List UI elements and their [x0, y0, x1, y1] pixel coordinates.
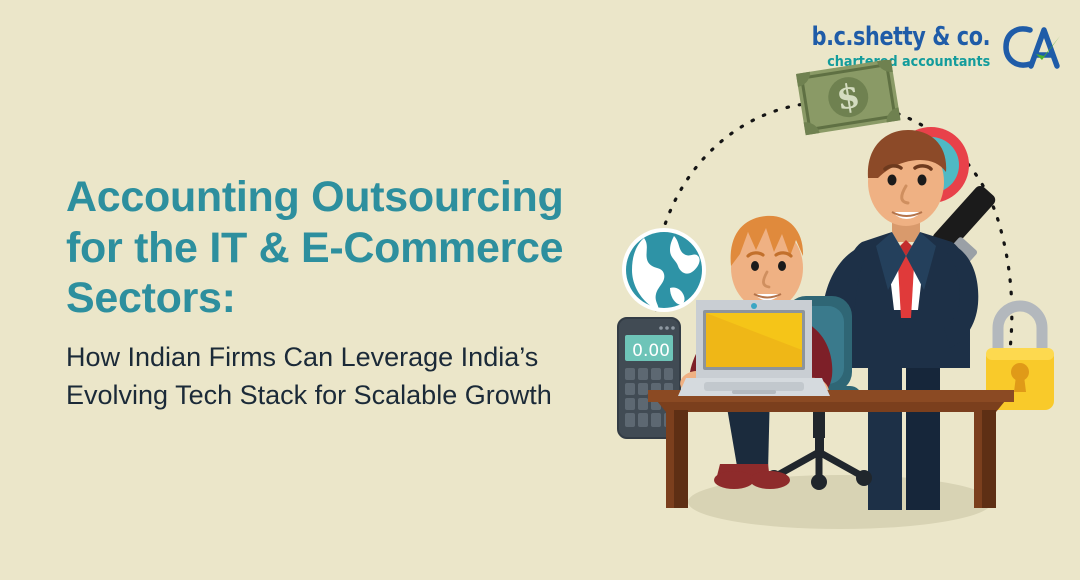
promo-banner: b.c.shetty & co. chartered accountants A… — [0, 0, 1080, 580]
hero-illustration: $ — [600, 60, 1070, 560]
calculator-display-value: 0.00 — [632, 341, 670, 361]
illustration-canvas: $ — [600, 60, 1070, 560]
page-title: Accounting Outsourcing for the IT & E-Co… — [66, 172, 626, 324]
banknote-icon: $ — [796, 60, 901, 135]
laptop-icon — [678, 300, 830, 396]
page-subtitle: How Indian Firms Can Leverage India’s Ev… — [66, 338, 626, 415]
globe-icon — [622, 228, 706, 312]
brand-name: b.c.shetty & co. — [811, 24, 990, 50]
